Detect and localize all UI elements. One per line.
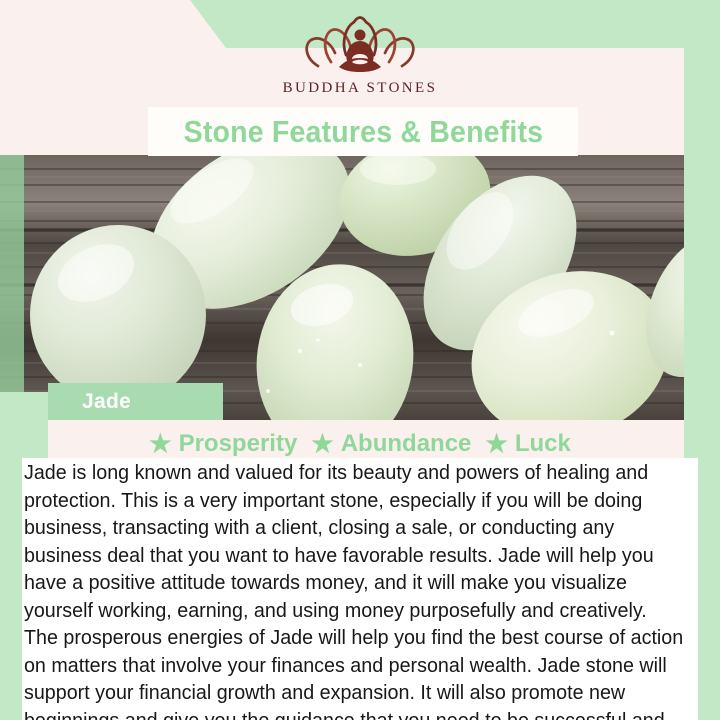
- keyword-list: ★ Prosperity ★ Abundance ★ Luck: [0, 428, 720, 460]
- keyword-abundance: ★ Abundance: [311, 430, 471, 458]
- brand-header: BUDDHA STONES: [0, 0, 720, 108]
- brand-name: BUDDHA STONES: [283, 80, 438, 97]
- star-icon: ★: [311, 432, 333, 457]
- page-title: Stone Features & Benefits: [183, 114, 543, 150]
- description-panel: Jade is long known and valued for its be…: [22, 458, 698, 720]
- photo-overlay-left: [0, 155, 24, 420]
- keyword-label: Abundance: [341, 430, 472, 458]
- infographic-page: BUDDHA STONES Stone Features & Benefits: [0, 0, 720, 720]
- description-text: Jade is long known and valued for its be…: [22, 460, 688, 720]
- keyword-label: Prosperity: [179, 430, 298, 458]
- star-icon: ★: [485, 432, 507, 457]
- jade-stones-photo: [0, 155, 720, 420]
- stone-name-badge: Jade: [48, 383, 223, 420]
- lotus-meditation-icon: [300, 12, 420, 78]
- keyword-luck: ★ Luck: [485, 430, 570, 458]
- star-icon: ★: [149, 432, 171, 457]
- title-band: Stone Features & Benefits: [148, 107, 578, 156]
- keyword-prosperity: ★ Prosperity: [149, 430, 297, 458]
- stone-name-text: Jade: [48, 390, 131, 414]
- keyword-label: Luck: [515, 430, 571, 458]
